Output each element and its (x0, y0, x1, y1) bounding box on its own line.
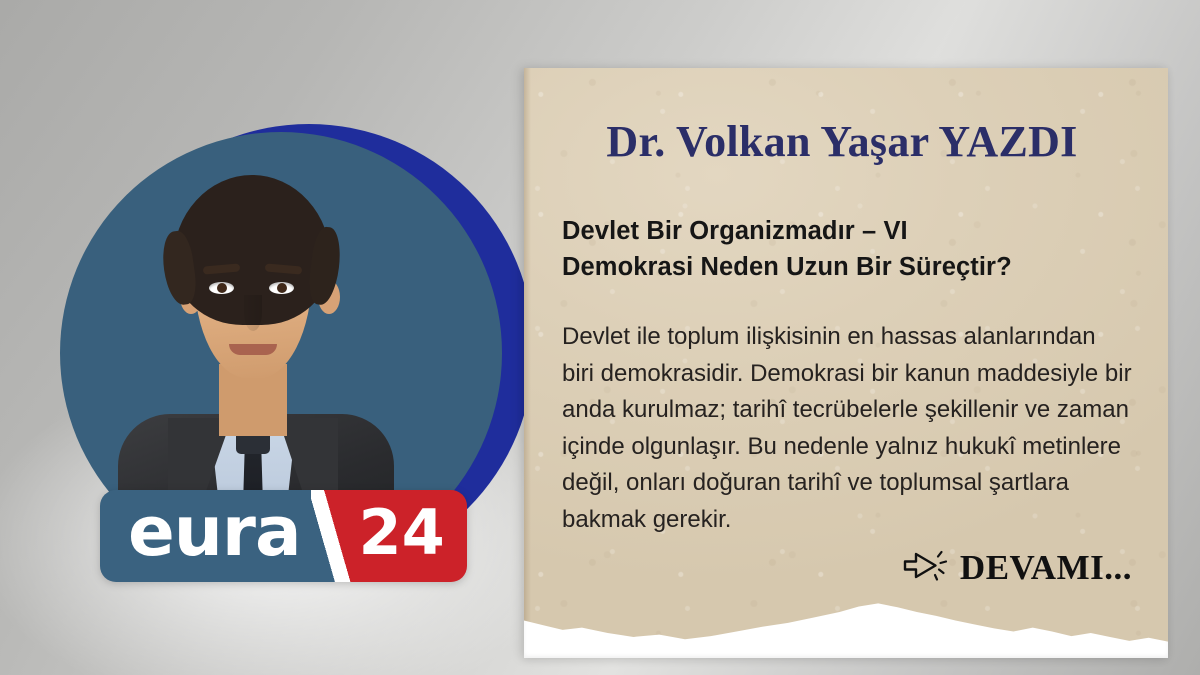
read-more-label: DEVAMI... (960, 548, 1132, 588)
read-more-cta[interactable]: DEVAMI... (902, 548, 1132, 588)
article-subtitle-line-1: Devlet Bir Organizmadır – VI (562, 213, 1134, 249)
paper-content: Dr. Volkan Yaşar YAZDI Devlet Bir Organi… (524, 68, 1168, 658)
torn-paper-card: Dr. Volkan Yaşar YAZDI Devlet Bir Organi… (524, 68, 1168, 658)
eye-right (269, 282, 294, 294)
logo-slash-divider (311, 490, 355, 582)
article-subtitle-line-2: Demokrasi Neden Uzun Bir Süreçtir? (562, 249, 1134, 285)
nose (244, 295, 262, 331)
logo-word-panel: eura (100, 490, 311, 582)
logo-number-panel: 24 (355, 490, 467, 582)
mouth (229, 344, 277, 355)
article-card-stage: eura 24 Dr. Volkan Yaşar YAZDI Devlet Bi… (0, 0, 1200, 675)
article-body: Devlet ile toplum ilişkisinin en hassas … (562, 319, 1134, 538)
logo-number: 24 (359, 502, 445, 570)
pointer-arrow-icon (902, 549, 948, 588)
logo-wordmark: eura (128, 498, 301, 575)
eura24-logo[interactable]: eura 24 (100, 490, 467, 582)
article-subtitle: Devlet Bir Organizmadır – VI Demokrasi N… (562, 213, 1134, 285)
eye-left (209, 282, 234, 294)
author-name: Dr. Volkan Yaşar YAZDI (550, 116, 1134, 167)
